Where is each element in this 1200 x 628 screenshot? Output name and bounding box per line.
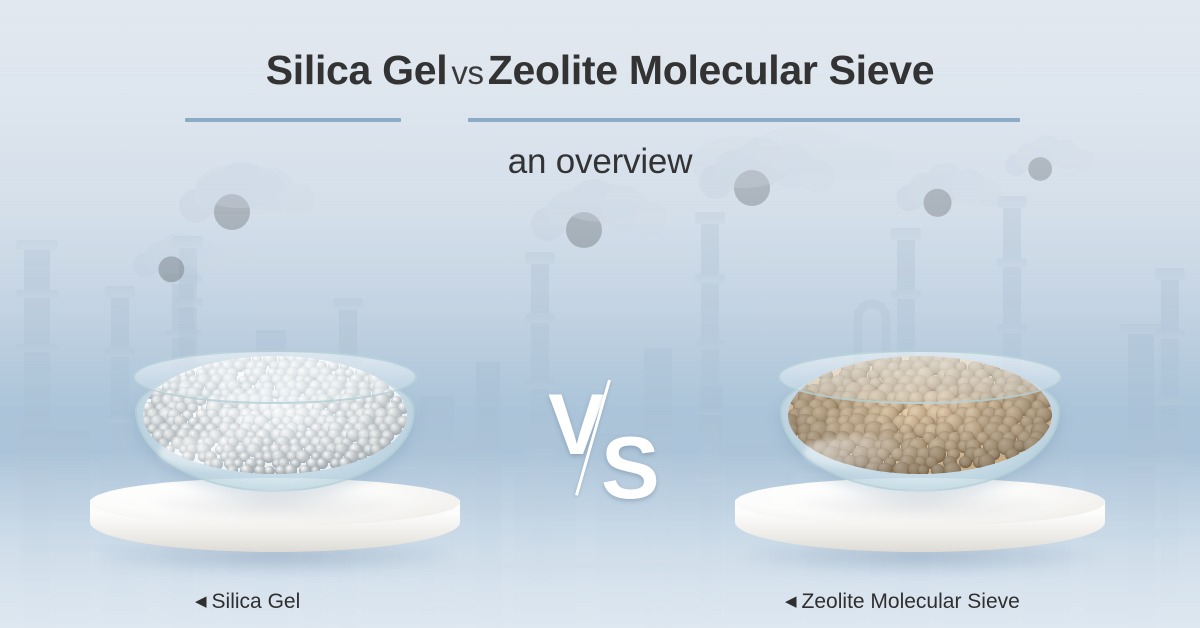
dish-highlight xyxy=(804,436,914,470)
caption-silica-gel: ◀Silica Gel xyxy=(195,590,300,614)
caption-zeolite-molecular-sieve: ◀Zeolite Molecular Sieve xyxy=(785,590,1020,614)
bead xyxy=(264,466,275,475)
bead xyxy=(338,457,352,470)
headline-block: Silica GelvsZeolite Molecular Sieve xyxy=(0,42,1200,101)
left-triangle-icon: ◀ xyxy=(195,593,212,610)
left-triangle-icon: ◀ xyxy=(785,593,802,610)
product-zeolite-molecular-sieve xyxy=(680,350,1160,580)
divider-rule-right xyxy=(468,118,1020,122)
versus-letter-s: S xyxy=(601,424,660,512)
page-subtitle: an overview xyxy=(0,136,1200,188)
dish-rim xyxy=(133,350,417,404)
banner-stage: Silica GelvsZeolite Molecular Sieve an o… xyxy=(0,0,1200,628)
title-primary: Silica Gel xyxy=(266,47,448,93)
title-divider-group xyxy=(0,118,1200,123)
bead xyxy=(1005,448,1019,461)
bead xyxy=(284,464,297,474)
petri-dish-left xyxy=(135,350,415,500)
divider-rule-left xyxy=(185,118,401,122)
page-title: Silica GelvsZeolite Molecular Sieve xyxy=(0,42,1200,101)
title-connector: vs xyxy=(447,54,487,91)
title-secondary: Zeolite Molecular Sieve xyxy=(488,47,935,93)
versus-badge: V S xyxy=(534,378,674,518)
petri-dish-right xyxy=(780,350,1060,500)
bead xyxy=(944,462,961,474)
caption-label: Zeolite Molecular Sieve xyxy=(802,590,1020,613)
bead xyxy=(299,465,311,474)
bead xyxy=(311,466,320,474)
product-silica-gel xyxy=(35,350,515,580)
dish-rim xyxy=(778,350,1062,404)
bead xyxy=(370,444,383,456)
dish-highlight xyxy=(159,436,269,470)
caption-label: Silica Gel xyxy=(212,590,301,613)
